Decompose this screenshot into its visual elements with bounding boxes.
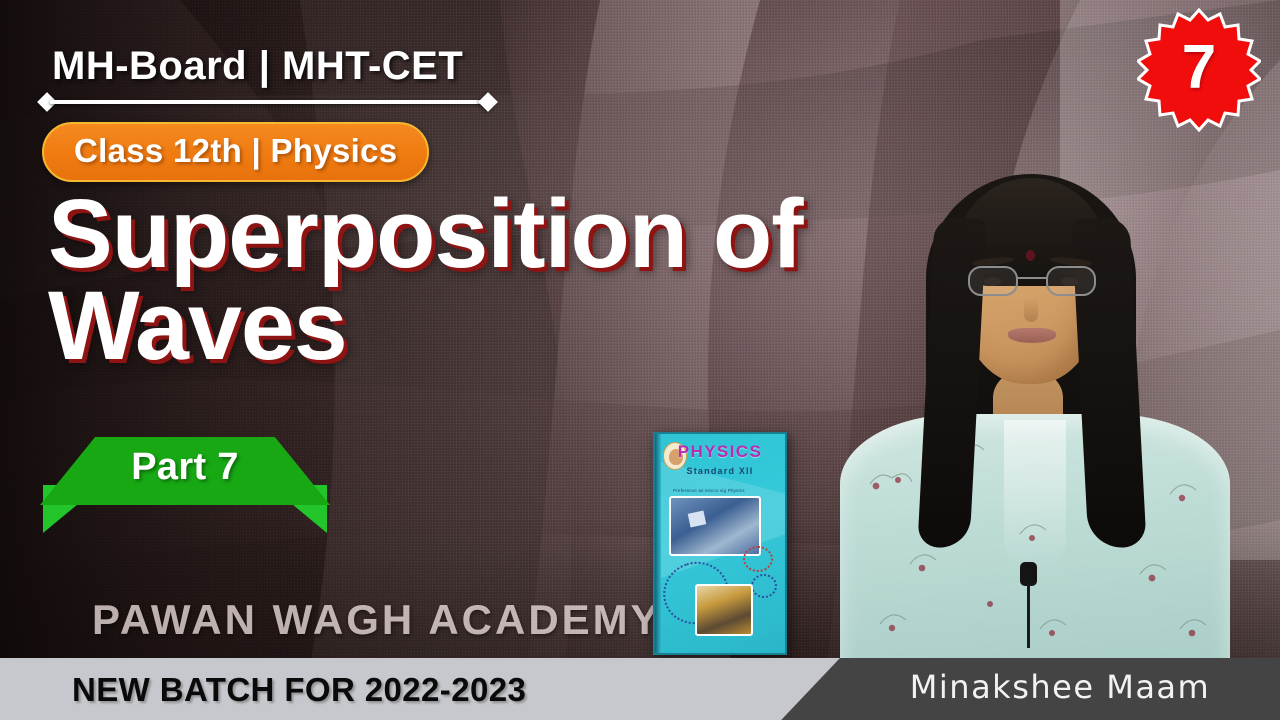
floral-pattern bbox=[840, 414, 1230, 660]
eyeglasses bbox=[968, 266, 1096, 296]
badge-number: 7 bbox=[1137, 8, 1261, 132]
cover-ring-2 bbox=[743, 546, 773, 572]
textbook-cover: PHYSICS Standard XII Preference as trecc… bbox=[653, 432, 787, 655]
physics-textbook: PHYSICS Standard XII Preference as trecc… bbox=[653, 432, 787, 655]
lens-right bbox=[1046, 266, 1096, 296]
lips bbox=[1008, 328, 1056, 343]
part-label: Part 7 bbox=[40, 446, 330, 489]
kurta-top bbox=[840, 414, 1230, 660]
textbook-standard: Standard XII bbox=[655, 466, 785, 476]
page-title: Superposition of Waves bbox=[48, 188, 948, 372]
lens-left bbox=[968, 266, 1018, 296]
diamond-right-icon bbox=[478, 92, 498, 112]
textbook-caption: Preference as trecco sig Physics bbox=[673, 488, 745, 493]
cover-ring-3 bbox=[751, 574, 777, 598]
episode-number-badge: 7 bbox=[1137, 8, 1261, 132]
video-thumbnail: MH-Board | MHT-CET Class 12th | Physics … bbox=[0, 0, 1280, 720]
class-subject-pill: Class 12th | Physics bbox=[42, 122, 429, 182]
textbook-spine bbox=[655, 434, 661, 653]
cover-photo-bottom bbox=[695, 584, 753, 636]
textbook-subject: PHYSICS bbox=[655, 442, 785, 462]
new-batch-text: NEW BATCH FOR 2022-2023 bbox=[72, 671, 526, 709]
lapel-microphone bbox=[1020, 562, 1037, 586]
board-heading: MH-Board | MHT-CET bbox=[52, 44, 463, 89]
part-ribbon: Part 7 bbox=[40, 437, 330, 542]
bottom-bar: NEW BATCH FOR 2022-2023 Minakshee Maam bbox=[0, 658, 1280, 720]
nose bbox=[1024, 298, 1038, 322]
title-line-2: Waves bbox=[48, 280, 948, 372]
teacher-name: Minakshee Maam bbox=[880, 668, 1240, 706]
divider-bar bbox=[50, 100, 485, 104]
ribbon-body: Part 7 bbox=[40, 437, 330, 505]
cover-photo-top bbox=[669, 496, 761, 556]
glasses-bridge bbox=[1018, 277, 1046, 279]
bindi bbox=[1026, 250, 1035, 261]
academy-watermark: PAWAN WAGH ACADEMY bbox=[92, 596, 662, 644]
divider bbox=[40, 93, 495, 111]
class-subject-label: Class 12th | Physics bbox=[74, 132, 397, 169]
